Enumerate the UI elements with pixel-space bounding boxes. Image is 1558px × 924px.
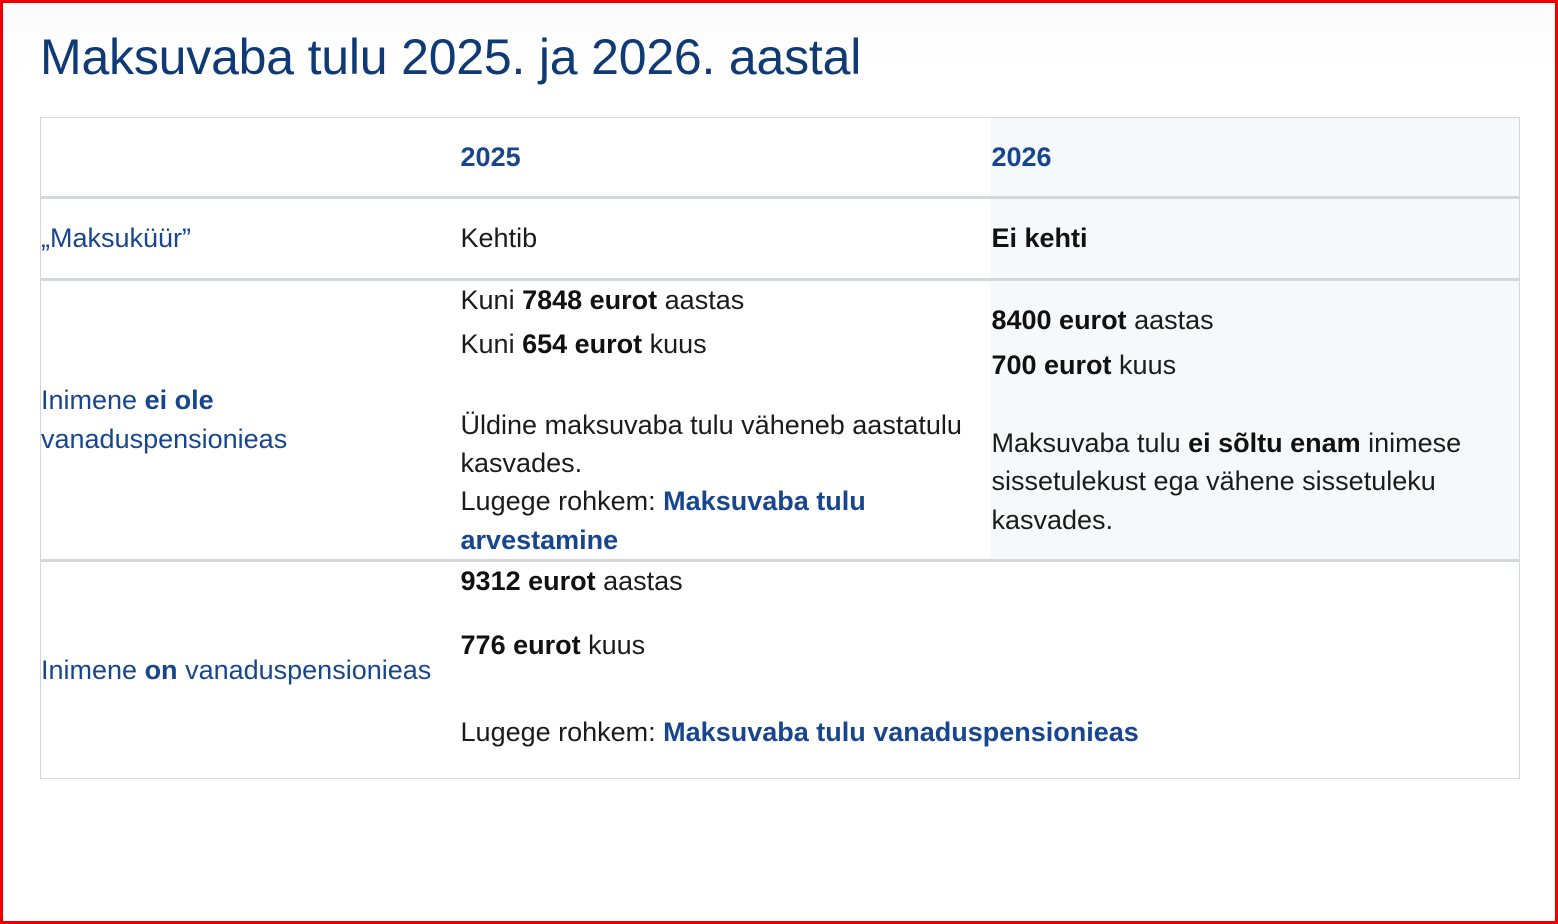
read-more-label-pension: Lugege rohkem: xyxy=(461,717,664,747)
cell-maksukyyr-2026: Ei kehti xyxy=(991,198,1519,280)
cell-not-pension-age-2025: Kuni 7848 eurot aastas Kuni 654 eurot ku… xyxy=(461,280,992,561)
table-row-not-pension-age: Inimene ei ole vanaduspensionieas Kuni 7… xyxy=(41,280,1520,561)
row-label-pension-strong: on xyxy=(145,655,178,685)
table-row-maksukyyr: „Maksuküür” Kehtib Ei kehti xyxy=(41,198,1520,280)
row-label-strong: ei ole xyxy=(145,385,214,415)
amount-year-pension: 9312 eurot aastas xyxy=(461,562,1519,600)
read-more-label-2025: Lugege rohkem: xyxy=(461,486,664,516)
amount-month-2026-value: 700 eurot xyxy=(991,350,1111,380)
table-header-row: 2025 2026 xyxy=(41,118,1520,198)
read-more-pension: Lugege rohkem: Maksuvaba tulu vanaduspen… xyxy=(461,713,1519,751)
amount-year-2025: Kuni 7848 eurot aastas xyxy=(461,281,992,319)
amount-month-pension: 776 eurot kuus xyxy=(461,626,1519,664)
header-cell-2026: 2026 xyxy=(991,118,1519,198)
amount-year-2025-suffix: aastas xyxy=(657,285,744,315)
amount-year-pension-suffix: aastas xyxy=(596,566,683,596)
amount-month-2025: Kuni 654 eurot kuus xyxy=(461,325,992,363)
note-2026: Maksuvaba tulu ei sõltu enam inimese sis… xyxy=(991,424,1519,539)
note-2026-prefix: Maksuvaba tulu xyxy=(991,428,1188,458)
header-cell-2025: 2025 xyxy=(461,118,992,198)
table-row-pension-age: Inimene on vanaduspensionieas 9312 eurot… xyxy=(41,561,1520,779)
cell-maksukyyr-2026-value: Ei kehti xyxy=(991,223,1087,253)
amount-year-2026: 8400 eurot aastas xyxy=(991,301,1519,339)
amount-year-2025-prefix: Kuni xyxy=(461,285,523,315)
amount-month-2025-value: 654 eurot xyxy=(522,329,642,359)
note-2025-text: Üldine maksuvaba tulu väheneb aastatulu … xyxy=(461,410,962,478)
amount-year-2025-value: 7848 eurot xyxy=(522,285,657,315)
table-header: 2025 2026 xyxy=(41,118,1520,198)
amount-year-2026-value: 8400 eurot xyxy=(991,305,1126,335)
amount-month-pension-suffix: kuus xyxy=(581,630,646,660)
amount-month-pension-value: 776 eurot xyxy=(461,630,581,660)
amount-year-2026-suffix: aastas xyxy=(1127,305,1214,335)
page-container: Maksuvaba tulu 2025. ja 2026. aastal 202… xyxy=(3,3,1555,921)
row-label-pension-suffix: vanaduspensionieas xyxy=(178,655,432,685)
note-2026-strong: ei sõltu enam xyxy=(1188,428,1361,458)
amount-year-pension-value: 9312 eurot xyxy=(461,566,596,596)
amount-month-2025-prefix: Kuni xyxy=(461,329,523,359)
header-cell-blank xyxy=(41,118,461,198)
cell-maksukyyr-2025: Kehtib xyxy=(461,198,992,280)
row-label-prefix: Inimene xyxy=(41,385,145,415)
tax-free-income-table: 2025 2026 „Maksuküür” Kehtib Ei kehti In… xyxy=(40,117,1520,779)
row-label-pension-prefix: Inimene xyxy=(41,655,145,685)
cell-not-pension-age-2026: 8400 eurot aastas 700 eurot kuus Maksuva… xyxy=(991,280,1519,561)
row-label-pension-age: Inimene on vanaduspensionieas xyxy=(41,561,461,779)
link-maksuvaba-tulu-vanaduspensionieas[interactable]: Maksuvaba tulu vanaduspensionieas xyxy=(663,717,1139,747)
row-label-maksukyyr: „Maksuküür” xyxy=(41,198,461,280)
row-label-suffix: vanaduspensionieas xyxy=(41,424,287,454)
amount-month-2026: 700 eurot kuus xyxy=(991,346,1519,384)
page-title: Maksuvaba tulu 2025. ja 2026. aastal xyxy=(40,29,1515,85)
note-2025: Üldine maksuvaba tulu väheneb aastatulu … xyxy=(461,406,992,559)
cell-pension-age-merged: 9312 eurot aastas 776 eurot kuus Lugege … xyxy=(461,561,1520,779)
amount-month-2026-suffix: kuus xyxy=(1112,350,1177,380)
row-label-not-pension-age: Inimene ei ole vanaduspensionieas xyxy=(41,280,461,561)
table-body: „Maksuküür” Kehtib Ei kehti Inimene ei o… xyxy=(41,198,1520,779)
amount-month-2025-suffix: kuus xyxy=(642,329,707,359)
